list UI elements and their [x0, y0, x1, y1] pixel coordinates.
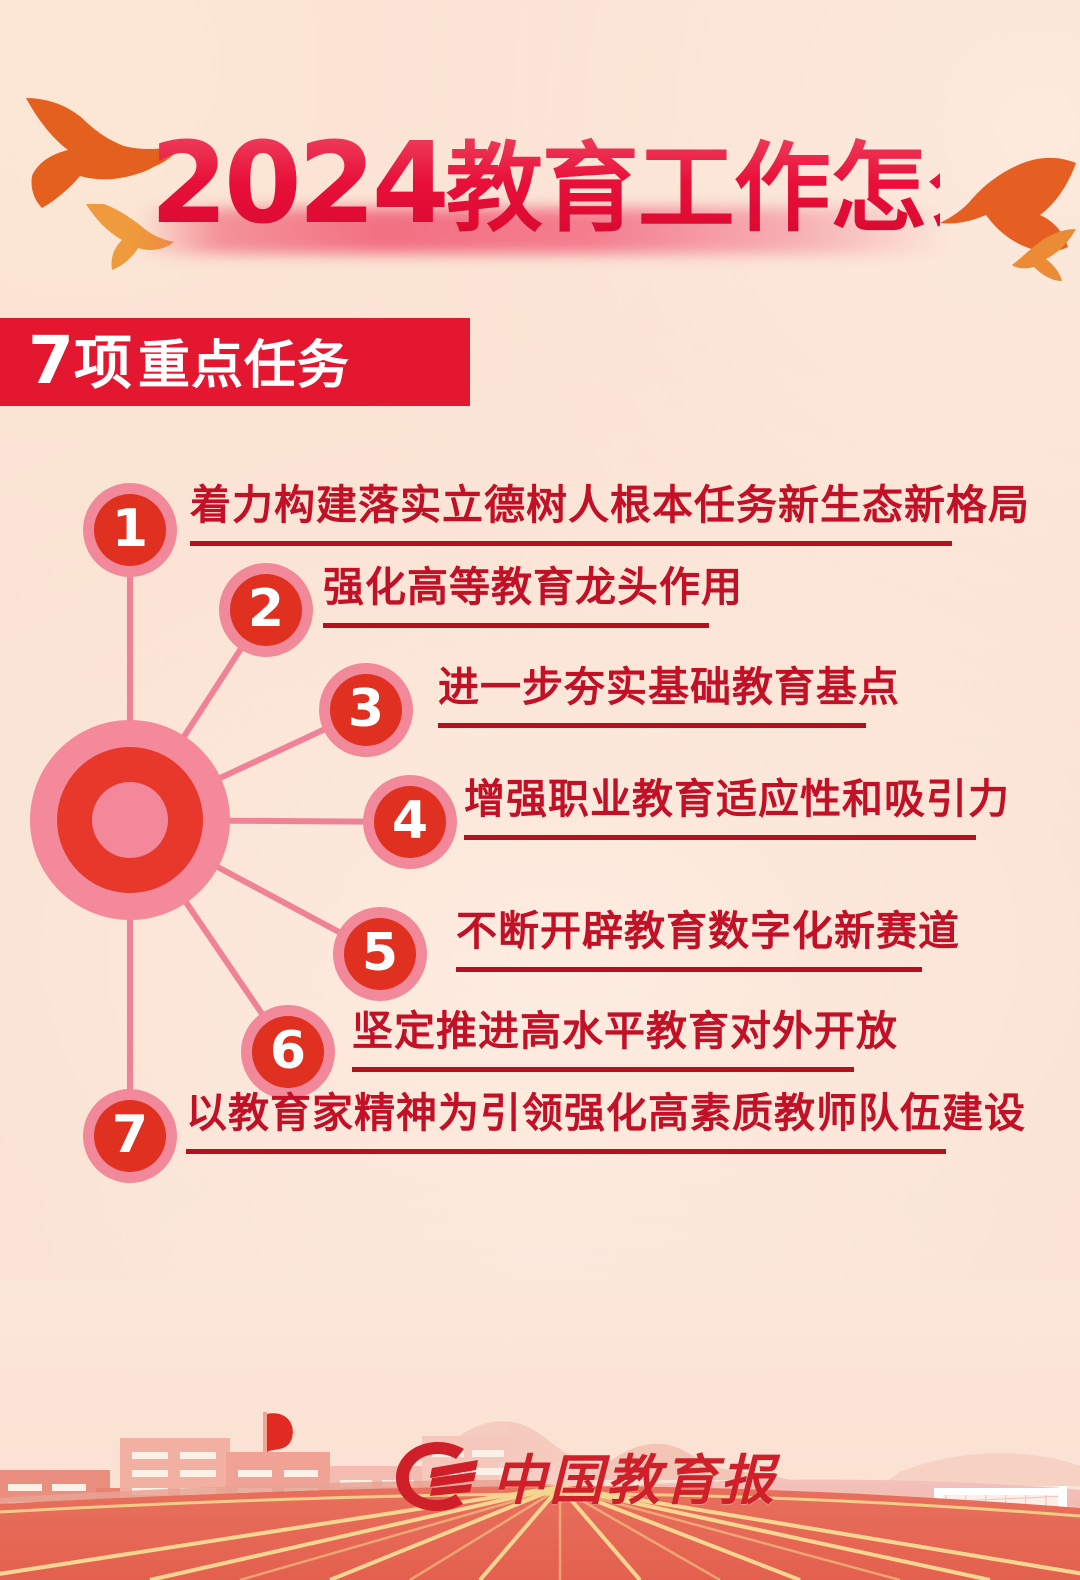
- node-number: 4: [363, 775, 457, 869]
- task-node-4[interactable]: 4: [363, 775, 457, 869]
- task-underline: [456, 967, 922, 972]
- task-text-6: 坚定推进高水平教育对外开放: [352, 1008, 898, 1072]
- task-node-2[interactable]: 2: [219, 563, 313, 657]
- publisher-logo: 中国教育报: [392, 1436, 777, 1515]
- task-text-3: 进一步夯实基础教育基点: [438, 664, 900, 728]
- task-underline: [464, 835, 976, 840]
- node-number: 3: [319, 663, 413, 757]
- node-number: 1: [83, 483, 177, 577]
- poster-header: 2024教育工作怎么干: [0, 0, 1080, 300]
- hub-inner-circle: [92, 782, 168, 858]
- task-label: 以教育家精神为引领强化高素质教师队伍建设: [186, 1090, 1026, 1136]
- task-label: 强化高等教育龙头作用: [323, 564, 743, 610]
- node-number: 5: [333, 907, 427, 1001]
- logo-text: 中国教育报: [492, 1436, 777, 1515]
- c-emblem-icon: [392, 1438, 480, 1514]
- task-text-7: 以教育家精神为引领强化高素质教师队伍建设: [186, 1090, 1026, 1154]
- poster-root: 2024教育工作怎么干 7 项 重点任务: [0, 0, 1080, 1580]
- node-number: 2: [219, 563, 313, 657]
- section-banner: 7 项 重点任务: [0, 318, 470, 406]
- task-node-5[interactable]: 5: [333, 907, 427, 1001]
- task-text-1: 着力构建落实立德树人根本任务新生态新格局: [190, 482, 1030, 546]
- task-text-4: 增强职业教育适应性和吸引力: [464, 776, 1010, 840]
- central-hub: [30, 720, 230, 920]
- task-node-6[interactable]: 6: [241, 1005, 335, 1099]
- task-label: 着力构建落实立德树人根本任务新生态新格局: [190, 482, 1030, 528]
- task-underline: [186, 1149, 946, 1154]
- poster-title: 2024教育工作怎么干: [150, 128, 940, 248]
- task-label: 坚定推进高水平教育对外开放: [352, 1008, 898, 1054]
- title-rest: 教育工作怎么干: [446, 132, 1080, 245]
- task-underline: [438, 723, 866, 728]
- task-text-5: 不断开辟教育数字化新赛道: [456, 908, 960, 972]
- tasks-diagram: 1 2 3 4 5 6 7: [0, 430, 1080, 1230]
- node-number: 6: [241, 1005, 335, 1099]
- task-label: 进一步夯实基础教育基点: [438, 664, 900, 710]
- title-year: 2024: [150, 119, 446, 249]
- node-number: 7: [83, 1089, 177, 1183]
- banner-count: 7: [28, 328, 74, 394]
- task-node-3[interactable]: 3: [319, 663, 413, 757]
- title-text-line: 2024教育工作怎么干: [150, 128, 940, 245]
- banner-unit: 项: [74, 333, 132, 395]
- task-node-7[interactable]: 7: [83, 1089, 177, 1183]
- task-label: 不断开辟教育数字化新赛道: [456, 908, 960, 954]
- bottom-scene: 中国教育报: [0, 1280, 1080, 1580]
- task-label: 增强职业教育适应性和吸引力: [464, 776, 1010, 822]
- task-node-1[interactable]: 1: [83, 483, 177, 577]
- task-underline: [190, 541, 952, 546]
- scene-illustration: [0, 1280, 1080, 1580]
- task-underline: [352, 1067, 854, 1072]
- banner-inner: 7 项 重点任务: [0, 328, 350, 397]
- task-underline: [323, 623, 709, 628]
- task-text-2: 强化高等教育龙头作用: [323, 564, 743, 628]
- banner-rest: 重点任务: [138, 335, 350, 397]
